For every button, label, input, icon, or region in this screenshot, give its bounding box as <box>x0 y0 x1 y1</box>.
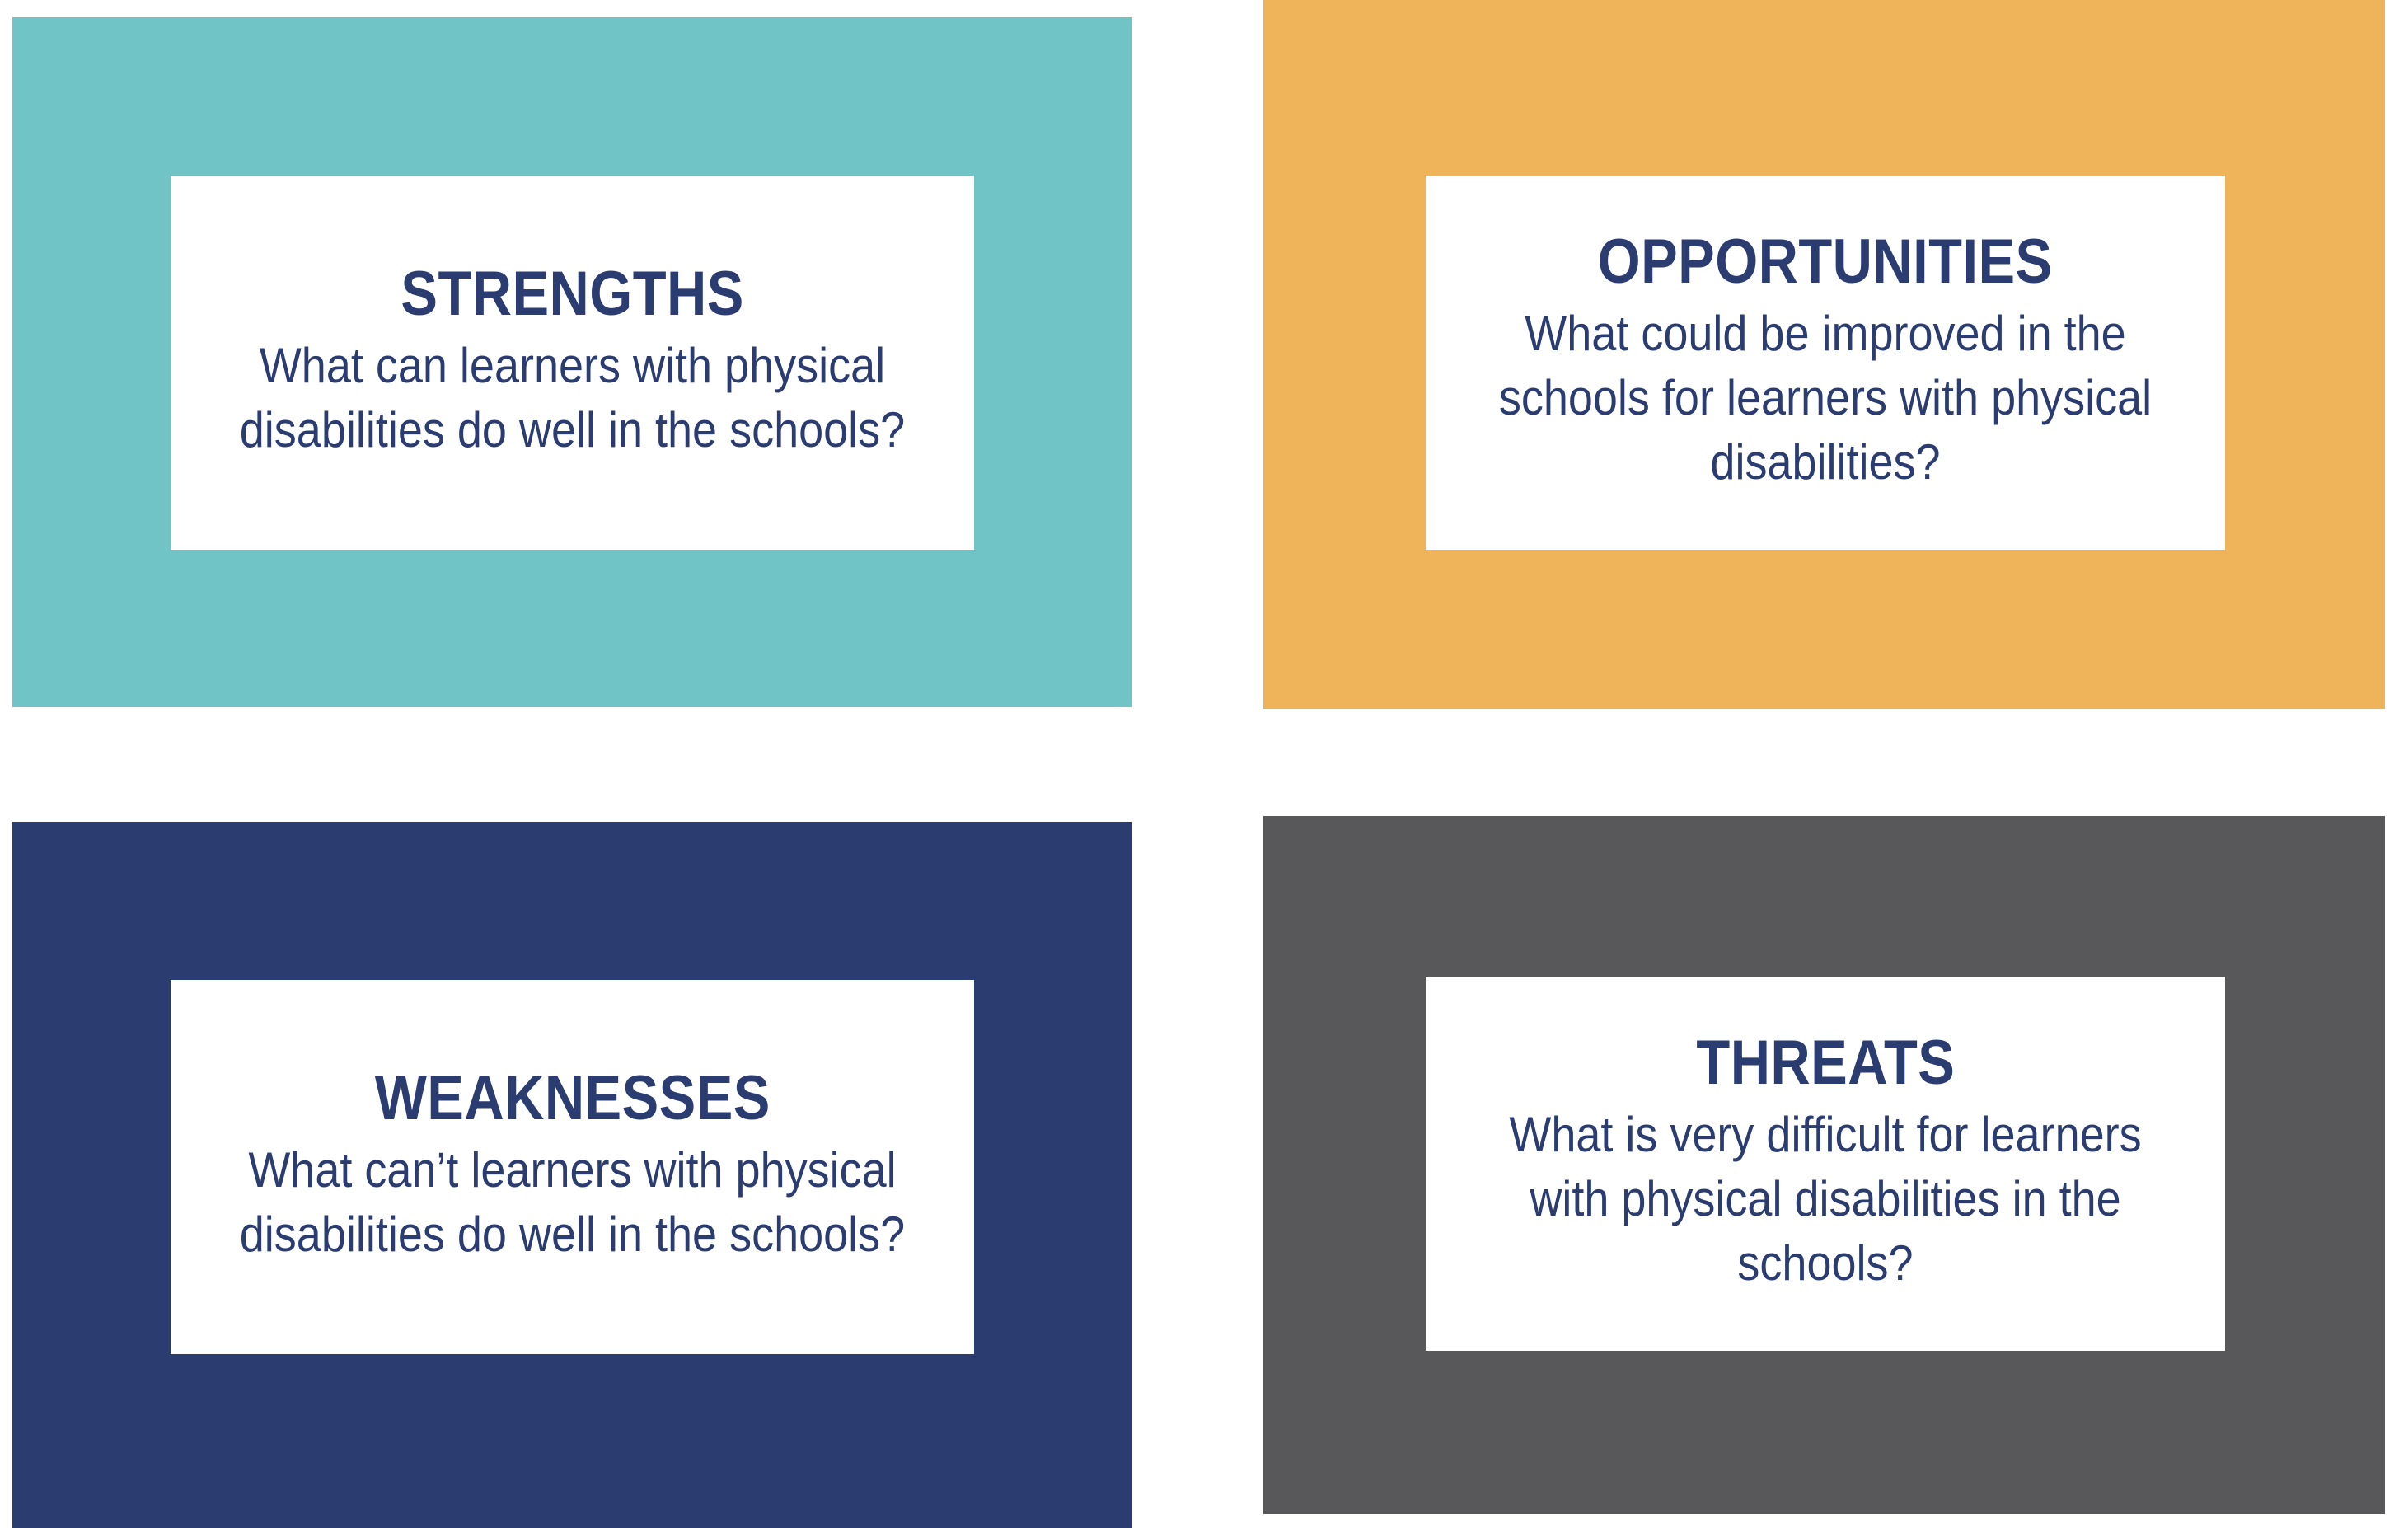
swot-title-weaknesses: WEAKNESSES <box>374 1067 770 1130</box>
swot-quadrant-opportunities: OPPORTUNITIES What could be improved in … <box>1263 0 2385 709</box>
swot-quadrant-strengths: STRENGTHS What can learners with physica… <box>12 17 1132 707</box>
swot-board: STRENGTHS What can learners with physica… <box>0 0 2408 1528</box>
swot-title-opportunities: OPPORTUNITIES <box>1598 231 2053 293</box>
swot-title-threats: THREATS <box>1696 1032 1955 1094</box>
swot-title-strengths: STRENGTHS <box>401 263 743 326</box>
swot-card-threats: THREATS What is very difficult for learn… <box>1426 977 2225 1351</box>
swot-question-threats: What is very difficult for learners with… <box>1479 1103 2172 1296</box>
swot-card-weaknesses: WEAKNESSES What can’t learners with phys… <box>171 980 974 1354</box>
swot-quadrant-weaknesses: WEAKNESSES What can’t learners with phys… <box>12 822 1132 1528</box>
swot-question-opportunities: What could be improved in the schools fo… <box>1479 302 2172 494</box>
swot-card-strengths: STRENGTHS What can learners with physica… <box>171 176 974 550</box>
swot-quadrant-threats: THREATS What is very difficult for learn… <box>1263 816 2385 1514</box>
swot-question-weaknesses: What can’t learners with physical disabi… <box>224 1138 921 1267</box>
swot-question-strengths: What can learners with physical disabili… <box>224 334 921 462</box>
swot-card-opportunities: OPPORTUNITIES What could be improved in … <box>1426 176 2225 550</box>
